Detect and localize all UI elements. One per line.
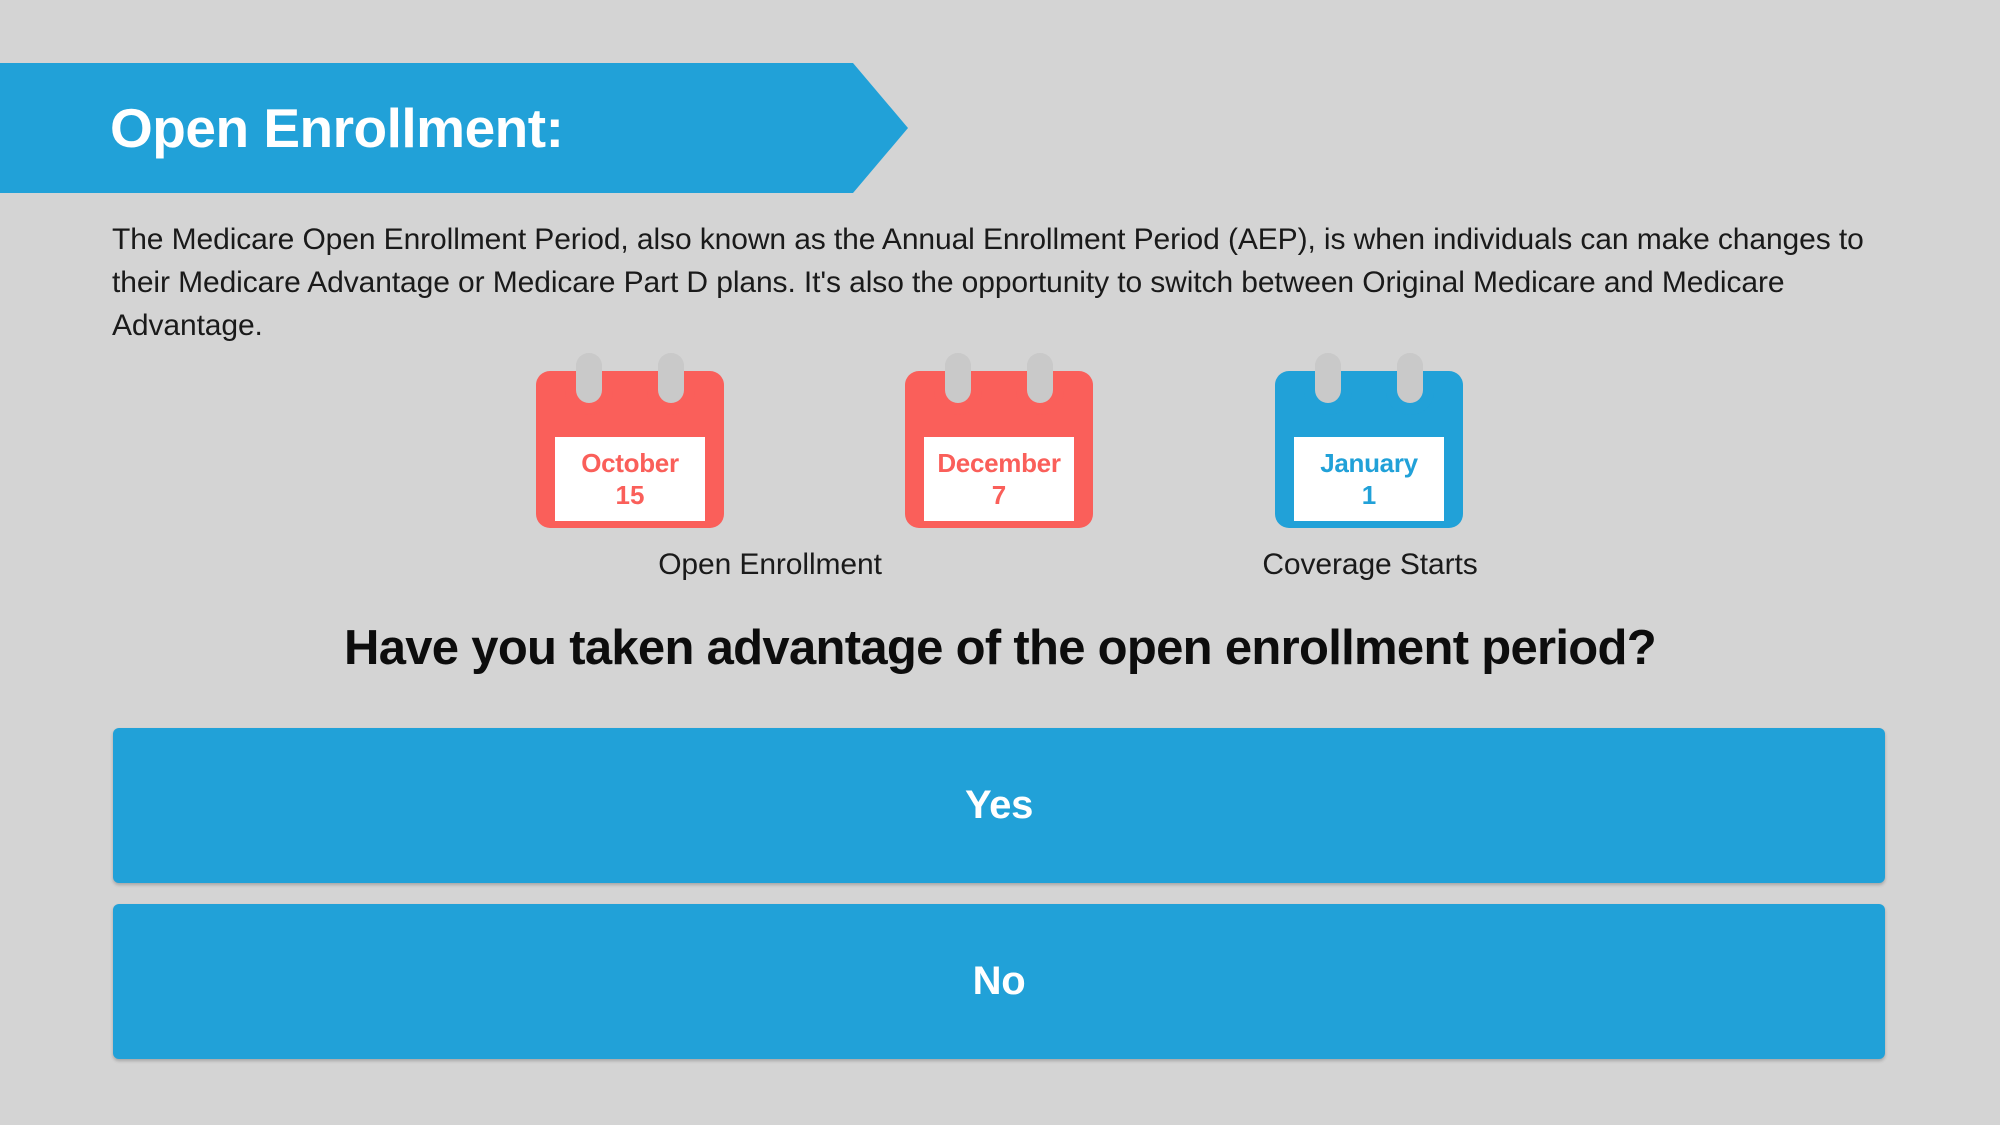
page-title: Open Enrollment: xyxy=(110,101,563,156)
caption-open-enrollment: Open Enrollment xyxy=(600,547,940,583)
answer-option-yes[interactable]: Yes xyxy=(113,728,1885,883)
calendar-day-label: 7 xyxy=(992,479,1006,511)
calendar-page: October 15 xyxy=(555,437,705,521)
survey-question: Have you taken advantage of the open enr… xyxy=(0,618,2000,678)
survey-options: Yes No xyxy=(113,728,1885,1059)
calendar-page: December 7 xyxy=(924,437,1074,521)
calendar-icon-october: October 15 xyxy=(536,353,724,528)
calendar-page: January 1 xyxy=(1294,437,1444,521)
calendar-icon-january: January 1 xyxy=(1275,353,1463,528)
calendar-day-label: 15 xyxy=(616,479,645,511)
calendar-month-label: January xyxy=(1320,447,1418,479)
calendar-month-label: December xyxy=(937,447,1060,479)
calendar-month-label: October xyxy=(581,447,679,479)
calendar-day-label: 1 xyxy=(1362,479,1376,511)
slide-canvas: Open Enrollment: The Medicare Open Enrol… xyxy=(0,0,2000,1125)
answer-option-no[interactable]: No xyxy=(113,904,1885,1059)
enrollment-timeline: October 15 December 7 xyxy=(0,340,2000,590)
banner-open-enrollment: Open Enrollment: xyxy=(0,63,908,193)
calendar-icon-december: December 7 xyxy=(905,353,1093,528)
caption-coverage-starts: Coverage Starts xyxy=(1195,547,1545,583)
intro-paragraph: The Medicare Open Enrollment Period, als… xyxy=(112,218,1902,347)
